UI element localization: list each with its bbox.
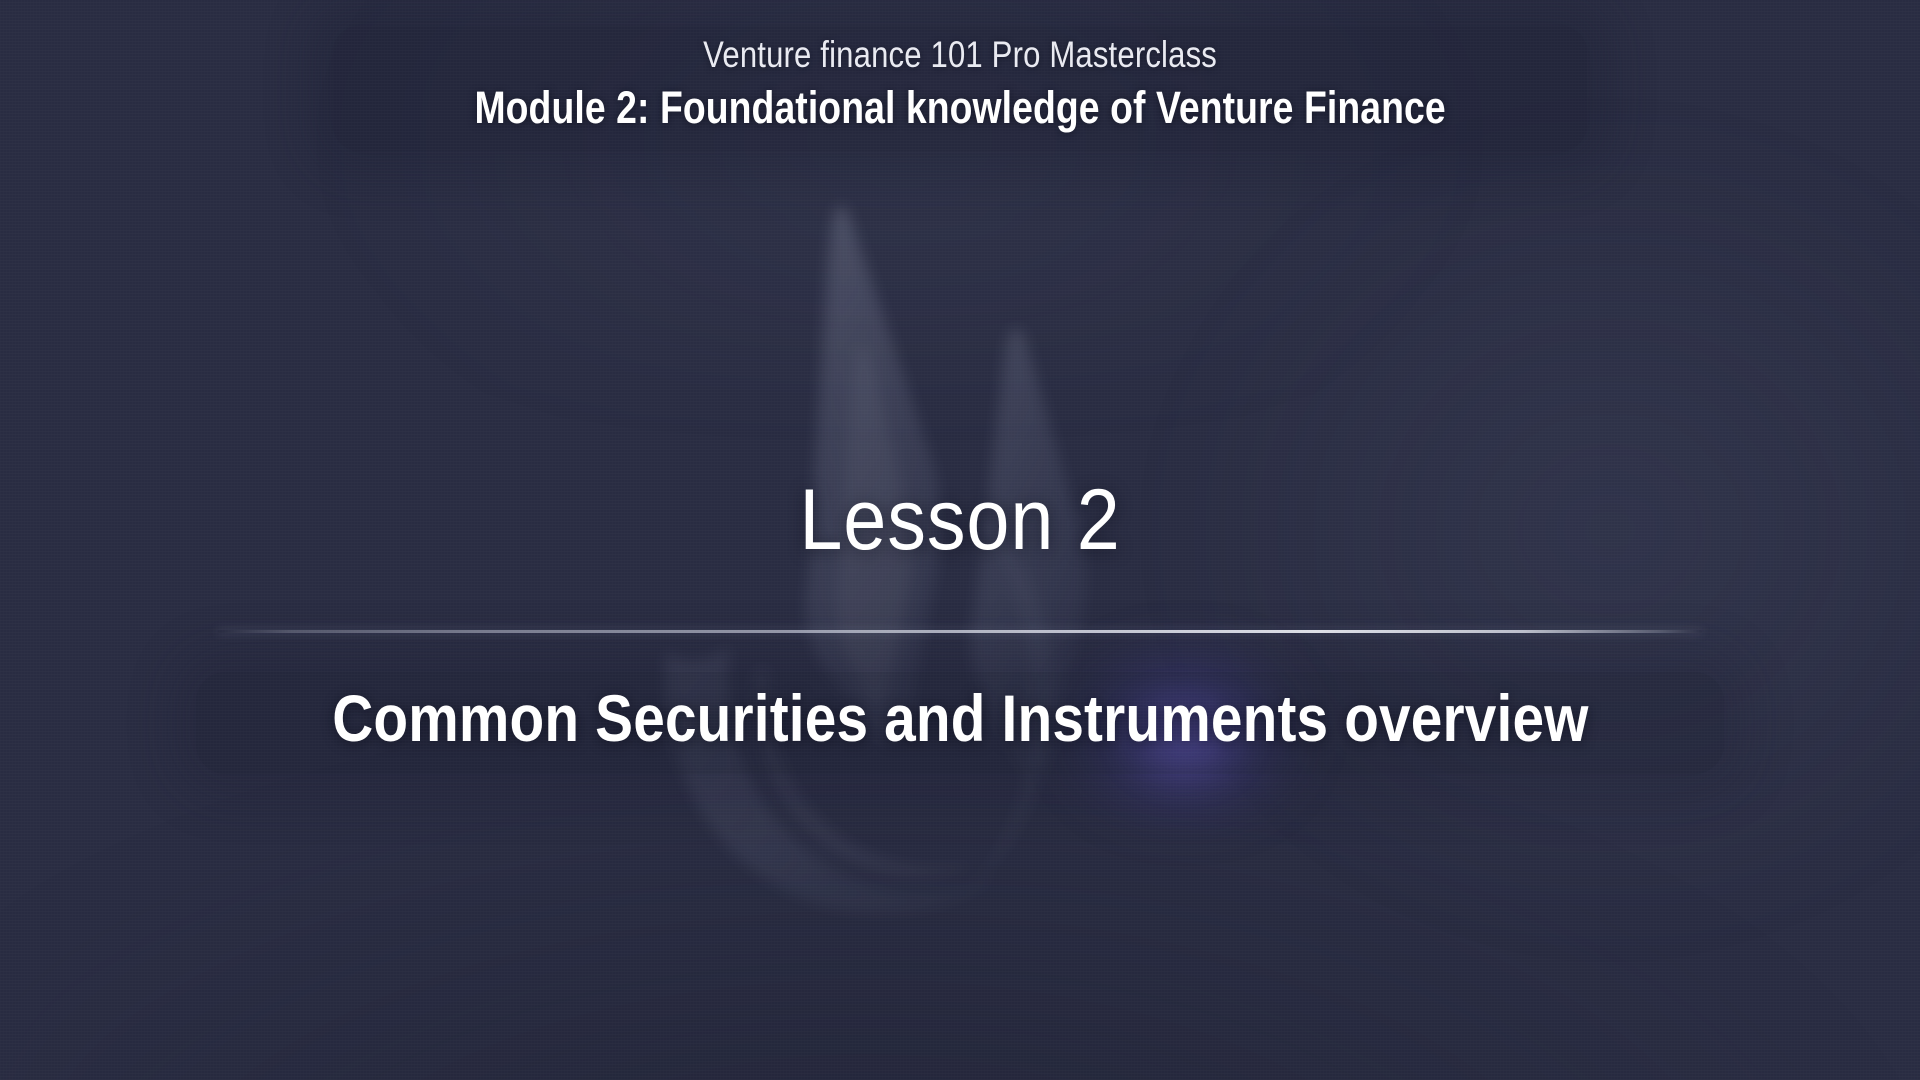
slide-subtitle-area: Common Securities and Instruments overvi… [0, 672, 1920, 774]
lesson-subtitle: Common Securities and Instruments overvi… [332, 682, 1588, 756]
slide-header: Venture finance 101 Pro Masterclass Modu… [0, 26, 1920, 151]
header-backdrop-plate: Venture finance 101 Pro Masterclass Modu… [333, 26, 1587, 151]
ambient-bottom-vignette [0, 760, 1920, 1080]
lesson-title-slide: Venture finance 101 Pro Masterclass Modu… [0, 0, 1920, 1080]
title-divider-rule [218, 630, 1702, 633]
subtitle-backdrop-plate: Common Securities and Instruments overvi… [196, 672, 1725, 774]
module-title: Module 2: Foundational knowledge of Vent… [474, 80, 1445, 137]
course-title: Venture finance 101 Pro Masterclass [469, 34, 1452, 77]
lesson-number-heading: Lesson 2 [96, 477, 1824, 563]
